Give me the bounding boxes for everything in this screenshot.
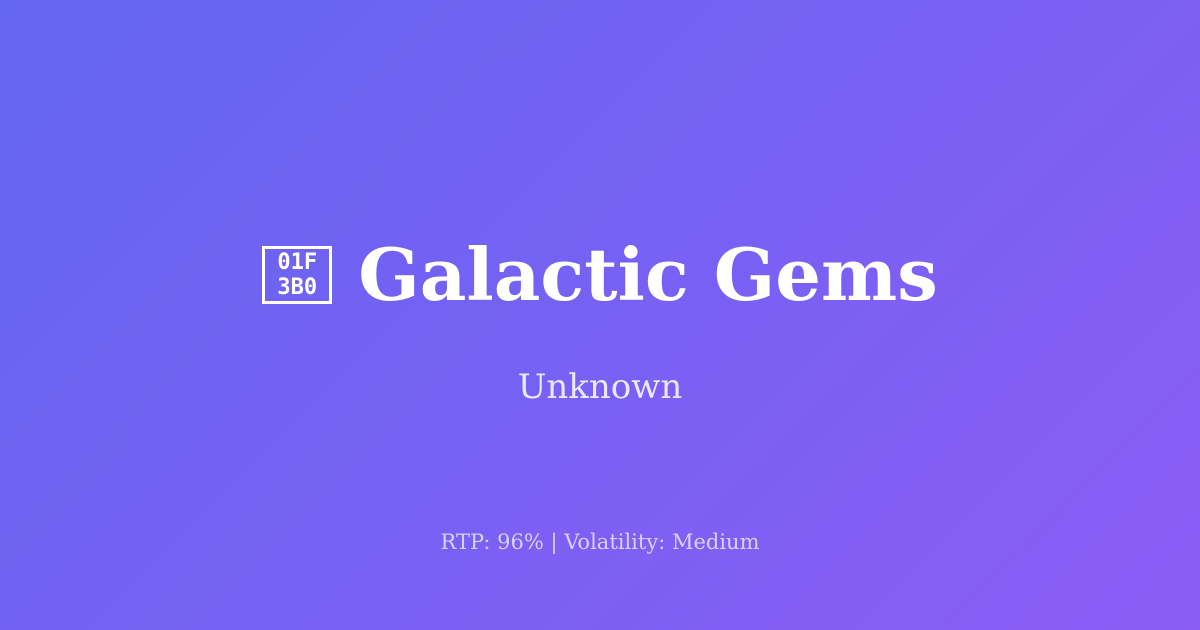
- tofu-hex-row-top: 01F: [277, 250, 317, 275]
- game-provider: Unknown: [0, 364, 1200, 410]
- game-preview-card: 01F 3B0 Galactic Gems Unknown RTP: 96% |…: [0, 0, 1200, 630]
- slot-machine-icon: 01F 3B0: [262, 246, 332, 304]
- game-title: Galactic Gems: [358, 232, 938, 318]
- game-stats-line: RTP: 96% | Volatility: Medium: [0, 527, 1200, 557]
- tofu-hex-row-bottom: 3B0: [277, 275, 317, 300]
- title-row: 01F 3B0 Galactic Gems: [0, 232, 1200, 318]
